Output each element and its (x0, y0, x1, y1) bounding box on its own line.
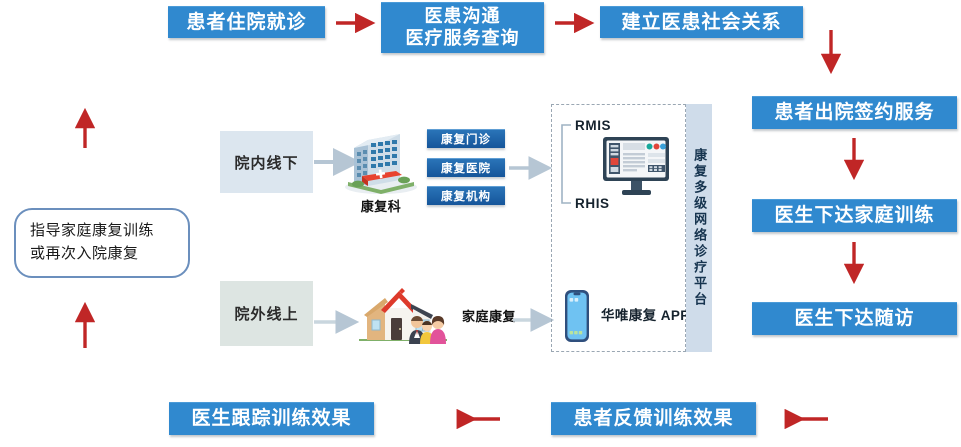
arrow-top-2 (553, 12, 601, 34)
label-rhis: RHIS (575, 196, 610, 211)
channel-box-outpatient[interactable]: 院外线上 (220, 281, 313, 346)
arrow-left-up-top (74, 108, 96, 150)
process-box-followup[interactable]: 医生下达随访 (752, 302, 957, 335)
chip-rehab-hospital[interactable]: 康复医院 (427, 158, 505, 177)
process-box-patient-admission[interactable]: 患者住院就诊 (168, 6, 325, 38)
home-rehab-label: 家庭康复 (452, 306, 526, 325)
arrow-left-up-bottom (74, 300, 96, 350)
process-box-home-training[interactable]: 医生下达家庭训练 (752, 199, 957, 232)
arrow-top-1 (334, 12, 382, 34)
arrow-chips-to-platform (508, 158, 554, 178)
hospital-label: 康复科 (340, 196, 422, 215)
platform-title-text: 康复多级网络诊疗平台 (692, 148, 706, 308)
chip-rehab-institution[interactable]: 康复机构 (427, 186, 505, 205)
hospital-icon (340, 124, 422, 196)
callout-line-1: 指导家庭康复训练 (30, 219, 176, 242)
process-box-communication-line1: 医患沟通 (425, 6, 501, 28)
process-box-patient-feedback[interactable]: 患者反馈训练效果 (551, 402, 756, 435)
arrow-inpatient-to-hospital (313, 152, 361, 172)
arrow-right-down-2 (843, 240, 865, 290)
arrow-right-down-1 (843, 136, 865, 186)
process-box-communication-line2: 医疗服务查询 (406, 28, 520, 50)
process-box-relationship[interactable]: 建立医患社会关系 (600, 6, 803, 38)
arrow-bottom-right (776, 408, 832, 430)
arrow-outpatient-to-home (313, 312, 361, 332)
arrow-bottom-left (448, 408, 504, 430)
chip-rehab-clinic[interactable]: 康复门诊 (427, 129, 505, 148)
process-box-discharge-contract[interactable]: 患者出院签约服务 (752, 96, 957, 129)
process-box-doctor-tracking[interactable]: 医生跟踪训练效果 (169, 402, 374, 435)
app-label: 华唯康复 APP (601, 304, 690, 324)
callout-home-rehab-guidance: 指导家庭康复训练 或再次入院康复 (14, 208, 190, 278)
home-family-icon (355, 282, 451, 350)
flowchart-canvas: 患者住院就诊 医患沟通 医疗服务查询 建立医患社会关系 患者出院签约服务 医生下… (0, 0, 961, 447)
label-rmis: RMIS (575, 118, 611, 133)
process-box-communication[interactable]: 医患沟通 医疗服务查询 (381, 2, 544, 53)
callout-line-2: 或再次入院康复 (30, 242, 176, 265)
arrow-right-down-0 (820, 28, 842, 80)
channel-box-inpatient[interactable]: 院内线下 (220, 131, 313, 193)
platform-title-bar: 康复多级网络诊疗平台 (686, 104, 712, 352)
